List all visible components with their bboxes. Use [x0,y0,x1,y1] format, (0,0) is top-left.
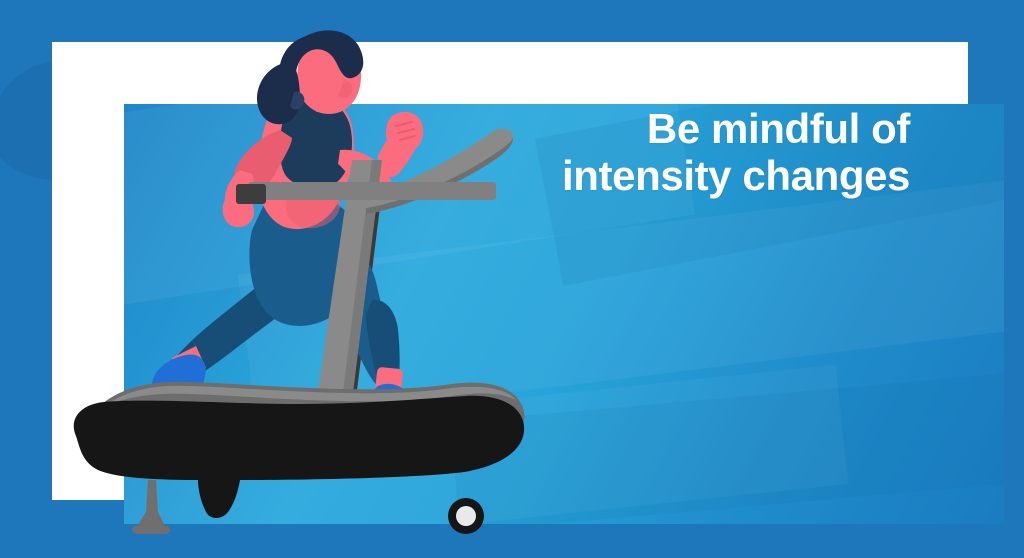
treadmill-handlebar-cap [236,184,266,204]
treadmill-foot-pad-left-base [132,526,170,534]
treadmill-wheel-hub [456,506,476,526]
headline-line-2: intensity changes [440,152,910,199]
treadmill-illustration [0,0,1024,558]
fitness-tip-banner: Be mindful of intensity changes [0,0,1024,558]
headline: Be mindful of intensity changes [440,105,910,199]
headline-line-1: Be mindful of [647,105,910,152]
treadmill-base [74,396,524,518]
treadmill-foot-pad-left [136,480,166,528]
runner-ponytail [257,62,300,124]
